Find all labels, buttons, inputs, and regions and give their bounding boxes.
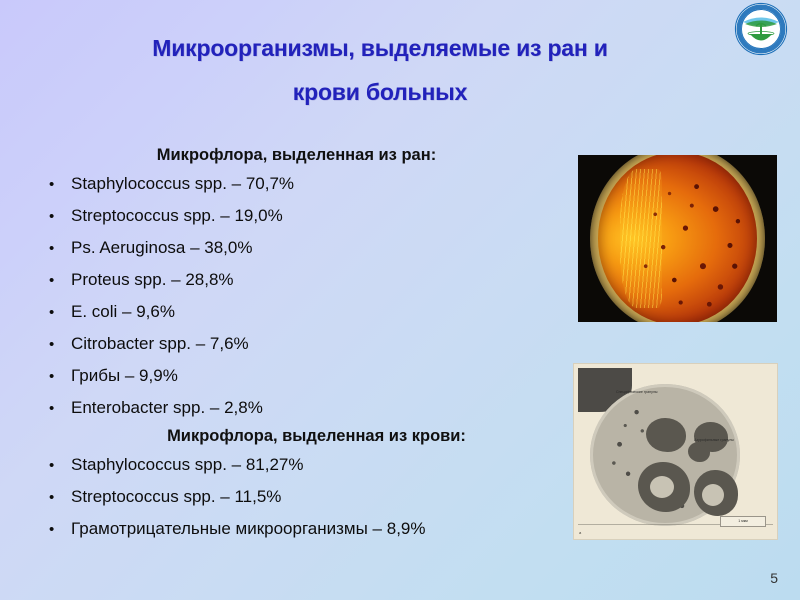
list-item-label: E. coli – 9,6% <box>71 296 573 327</box>
slide-body: Микрофлора, выделенная из ран: • Staphyl… <box>38 143 573 545</box>
nucleus-lobe <box>688 442 710 462</box>
bullet-icon: • <box>38 265 71 296</box>
list-item: • Staphylococcus spp. – 81,27% <box>38 449 573 481</box>
bullet-icon: • <box>38 201 71 232</box>
list-item: • Грамотрицательные микроорганизмы – 8,9… <box>38 513 573 545</box>
list-item-label: Грамотрицательные микроорганизмы – 8,9% <box>71 513 573 544</box>
micrograph-scale-bar: 1 мкм <box>720 516 766 527</box>
slide-title: Микроорганизмы, выделяемые из ран и кров… <box>60 26 700 114</box>
list-item-label: Staphylococcus spp. – 81,27% <box>71 449 573 480</box>
list-item: • Streptococcus spp. – 11,5% <box>38 481 573 513</box>
micrograph-label-azurophilic-granules: Азурофильные гранулы <box>694 438 734 442</box>
micrograph-label-specific-granules: Специфические гранулы <box>616 390 658 394</box>
micrograph-footnote: a <box>579 530 581 535</box>
list-item: • Proteus spp. – 28,8% <box>38 264 573 296</box>
slide-title-line-2: крови больных <box>60 70 700 114</box>
bullet-icon: • <box>38 233 71 264</box>
list-item-label: Proteus spp. – 28,8% <box>71 264 573 295</box>
petri-colonies <box>598 155 757 322</box>
slide-canvas: Микроорганизмы, выделяемые из ран и кров… <box>0 0 800 600</box>
petri-dish-agar <box>598 155 757 322</box>
nucleus-highlight <box>702 484 724 506</box>
bullet-icon: • <box>38 450 71 481</box>
bullet-icon: • <box>38 169 71 200</box>
list-item: • Enterobacter spp. – 2,8% <box>38 392 573 424</box>
bullet-icon: • <box>38 329 71 360</box>
slide-title-line-1: Микроорганизмы, выделяемые из ран и <box>152 35 607 61</box>
list-item: • Citrobacter spp. – 7,6% <box>38 328 573 360</box>
bullet-icon: • <box>38 514 71 545</box>
bullet-icon: • <box>38 297 71 328</box>
section-heading-blood: Микрофлора, выделенная из крови: <box>38 424 573 449</box>
petri-dish-photo <box>578 155 777 322</box>
section-heading-wounds: Микрофлора, выделенная из ран: <box>38 143 573 168</box>
list-item: • Streptococcus spp. – 19,0% <box>38 200 573 232</box>
neutrophil-cell <box>590 384 740 526</box>
list-item-label: Streptococcus spp. – 11,5% <box>71 481 573 512</box>
list-item-label: Ps. Aeruginosa – 38,0% <box>71 232 573 263</box>
list-item-label: Enterobacter spp. – 2,8% <box>71 392 573 423</box>
list-item: • Грибы – 9,9% <box>38 360 573 392</box>
list-item-label: Грибы – 9,9% <box>71 360 573 391</box>
list-item: • E. coli – 9,6% <box>38 296 573 328</box>
list-item: • Ps. Aeruginosa – 38,0% <box>38 232 573 264</box>
page-number: 5 <box>770 570 778 586</box>
list-item: • Staphylococcus spp. – 70,7% <box>38 168 573 200</box>
bullet-icon: • <box>38 482 71 513</box>
list-item-label: Staphylococcus spp. – 70,7% <box>71 168 573 199</box>
university-logo <box>734 2 788 56</box>
nucleus-lobe <box>646 418 686 452</box>
nucleus-highlight <box>650 476 674 498</box>
list-item-label: Citrobacter spp. – 7,6% <box>71 328 573 359</box>
bullet-icon: • <box>38 393 71 424</box>
neutrophil-micrograph-photo: Специфические гранулы Азурофильные грану… <box>573 363 778 540</box>
bullet-icon: • <box>38 361 71 392</box>
list-item-label: Streptococcus spp. – 19,0% <box>71 200 573 231</box>
